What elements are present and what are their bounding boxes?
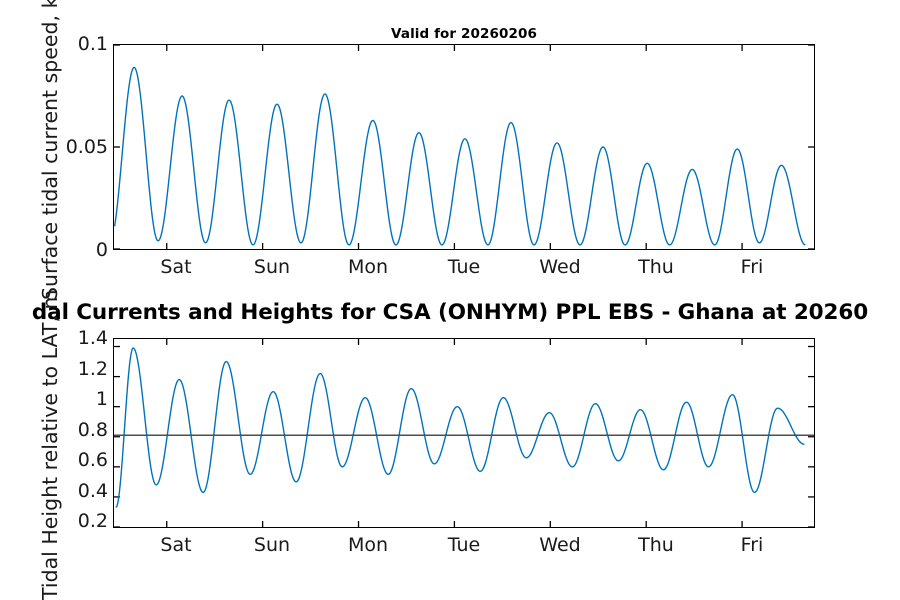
tidal-height-plot-area [113, 338, 815, 528]
tidal-height-y-axis-label: Tidal Height relative to LAT, m [38, 290, 62, 600]
current-speed-xtick-wed: Wed [539, 256, 580, 278]
current-speed-ytick-0.05: 0.05 [66, 138, 108, 157]
current-speed-xtick-thu: Thu [638, 256, 674, 278]
tidal-height-ytick-0.8: 0.8 [78, 421, 108, 440]
tidal-height-ytick-0.6: 0.6 [78, 451, 108, 470]
current-speed-xtick-fri: Fri [741, 256, 764, 278]
current-speed-xtick-sun: Sun [254, 256, 290, 278]
tidal-height-plot-svg [114, 339, 814, 527]
current-speed-xtick-tue: Tue [448, 256, 480, 278]
tidal-height-xtick-sun: Sun [254, 534, 290, 556]
figure-main-title: dal Currents and Heights for CSA (ONHYM)… [32, 300, 868, 325]
tidal-height-ytick-1.2: 1.2 [78, 360, 108, 379]
tidal-height-xtick-thu: Thu [638, 534, 674, 556]
tidal-height-ytick-1: 1 [96, 390, 108, 409]
tidal-height-xtick-wed: Wed [539, 534, 580, 556]
tidal-height-ytick-1.4: 1.4 [78, 329, 108, 348]
current-speed-ytick-0: 0 [96, 241, 108, 260]
current-speed-plot-area [113, 44, 815, 250]
tidal-height-xtick-tue: Tue [448, 534, 480, 556]
current-speed-xtick-mon: Mon [348, 256, 388, 278]
current-speed-y-axis-label: Surface tidal current speed, kn [38, 0, 62, 300]
tidal-height-ytick-0.4: 0.4 [78, 482, 108, 501]
tidal-height-xtick-mon: Mon [348, 534, 388, 556]
tide-figure: dal Currents and Heights for CSA (ONHYM)… [0, 0, 900, 600]
current-speed-plot-svg [114, 45, 814, 249]
tidal-height-xtick-fri: Fri [741, 534, 764, 556]
current-speed-ytick-0.1: 0.1 [78, 35, 108, 54]
tidal-height-xtick-sat: Sat [160, 534, 191, 556]
current-speed-chart-title: Valid for 20260206 [113, 26, 815, 42]
current-speed-xtick-sat: Sat [160, 256, 191, 278]
tidal-height-ytick-0.2: 0.2 [78, 512, 108, 531]
